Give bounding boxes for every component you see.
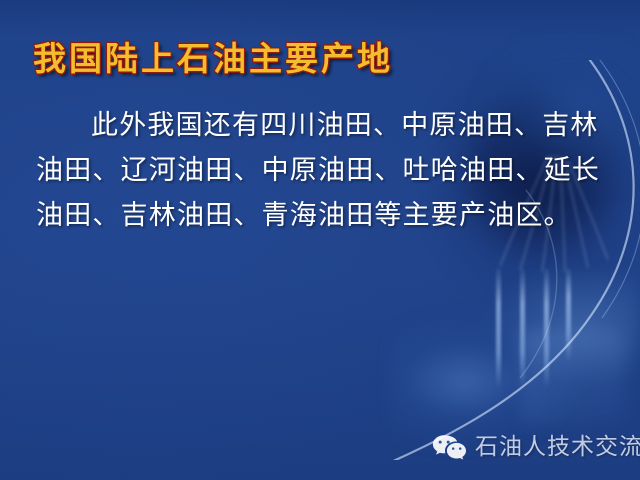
body-line: 油田、吉林油田、青海油田等主要产油区。 [36, 193, 584, 238]
wechat-icon [432, 434, 466, 461]
slide-title: 我国陆上石油主要产地 [33, 38, 393, 80]
watermark: 石油人技术交流 [432, 434, 640, 461]
slide-body: 此外我国还有四川油田、中原油田、吉林 油田、辽河油田、中原油田、吐哈油田、延长 … [36, 103, 584, 238]
presentation-slide: 我国陆上石油主要产地 此外我国还有四川油田、中原油田、吉林 油田、辽河油田、中原… [0, 0, 640, 480]
body-line: 此外我国还有四川油田、中原油田、吉林 [36, 103, 584, 148]
watermark-label: 石油人技术交流 [475, 434, 640, 461]
body-line: 油田、辽河油田、中原油田、吐哈油田、延长 [36, 148, 584, 193]
